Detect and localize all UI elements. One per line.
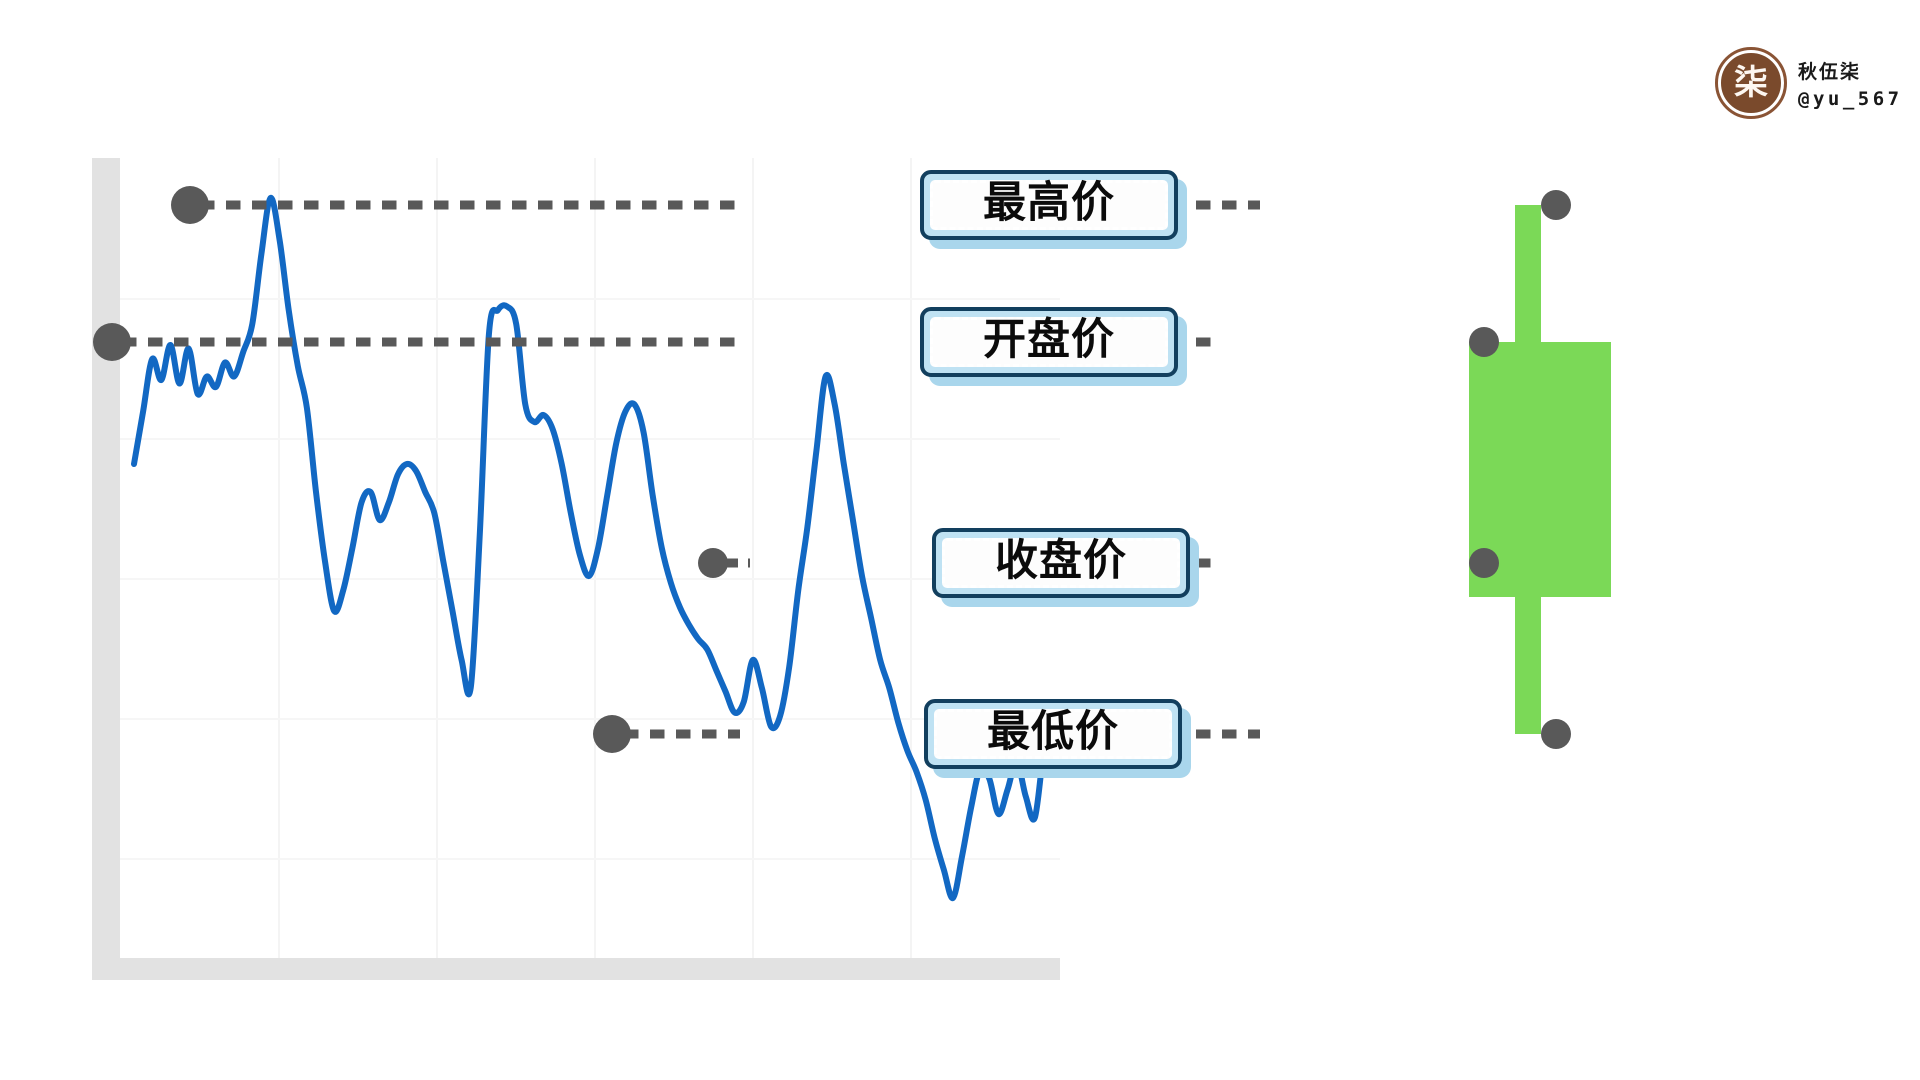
connector-open-left <box>122 338 740 347</box>
label-plaque-open[interactable]: 开盘价 <box>920 307 1178 377</box>
marker-dot-open[interactable] <box>93 323 131 361</box>
plaque-label-low: 最低价 <box>987 711 1119 754</box>
candle-marker-low[interactable] <box>1541 719 1571 749</box>
marker-dot-low[interactable] <box>593 715 631 753</box>
plaque-inner: 收盘价 <box>942 538 1180 588</box>
marker-dot-high[interactable] <box>171 186 209 224</box>
label-plaque-high[interactable]: 最高价 <box>920 170 1178 240</box>
seal-icon: 柒 <box>1718 50 1784 116</box>
plot-area <box>120 158 1060 958</box>
candle-marker-open[interactable] <box>1469 327 1499 357</box>
plaque-inner: 最高价 <box>930 180 1168 230</box>
watermark-author-name: 秋伍柒 <box>1798 57 1903 84</box>
seal-glyph: 柒 <box>1721 53 1781 113</box>
y-axis-bar <box>92 158 120 958</box>
connector-low-left <box>624 730 740 739</box>
candle-marker-high[interactable] <box>1541 190 1571 220</box>
connector-high-left <box>200 201 740 210</box>
plaque-inner: 开盘价 <box>930 317 1168 367</box>
plaque-body: 收盘价 <box>932 528 1190 598</box>
plaque-body: 最低价 <box>924 699 1182 769</box>
watermark-text: 秋伍柒 @yu_567 <box>1798 57 1903 110</box>
x-axis-bar <box>92 958 1060 980</box>
plaque-label-close: 收盘价 <box>995 540 1127 583</box>
plaque-body: 开盘价 <box>920 307 1178 377</box>
marker-dot-close[interactable] <box>698 548 728 578</box>
watermark: 柒 秋伍柒 @yu_567 <box>1718 50 1903 116</box>
plaque-label-high: 最高价 <box>983 182 1115 225</box>
line-chart-panel <box>92 158 1060 978</box>
plaque-label-open: 开盘价 <box>983 319 1115 362</box>
watermark-handle: @yu_567 <box>1798 88 1903 110</box>
plaque-inner: 最低价 <box>934 709 1172 759</box>
label-plaque-low[interactable]: 最低价 <box>924 699 1182 769</box>
connector-close-left <box>726 559 750 568</box>
candle-marker-close[interactable] <box>1469 548 1499 578</box>
candlestick <box>1440 180 1660 970</box>
label-plaque-close[interactable]: 收盘价 <box>932 528 1190 598</box>
price-sparkline <box>120 158 1060 958</box>
plaque-body: 最高价 <box>920 170 1178 240</box>
